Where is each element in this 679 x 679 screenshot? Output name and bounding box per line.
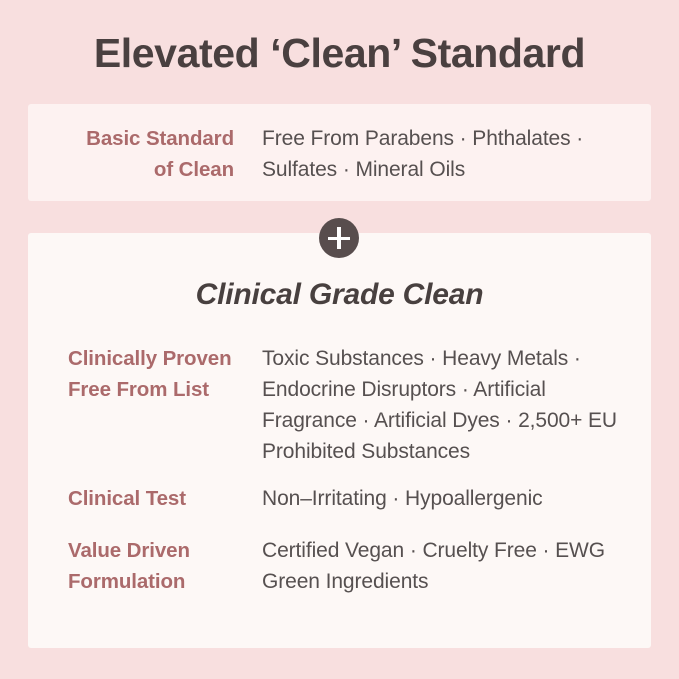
clinical-grade-clean-heading: Clinical Grade Clean — [28, 275, 651, 315]
basic-standard-label: Basic Standardof Clean — [40, 123, 234, 185]
clinical-test-label: Clinical Test — [68, 483, 262, 514]
basic-standard-row: Basic Standardof Clean Free From Paraben… — [40, 123, 632, 185]
clinically-proven-row: Clinically ProvenFree From List Toxic Su… — [68, 343, 617, 467]
value-driven-value: Certified Vegan · Cruelty Free · EWG Gre… — [262, 535, 617, 597]
clinical-test-row: Clinical Test Non–Irritating · Hypoaller… — [68, 483, 617, 514]
value-driven-label: Value DrivenFormulation — [68, 535, 262, 597]
value-driven-row: Value DrivenFormulation Certified Vegan … — [68, 535, 617, 597]
plus-icon-vertical-bar — [337, 227, 340, 249]
clinically-proven-label: Clinically ProvenFree From List — [68, 343, 262, 405]
plus-icon — [319, 218, 359, 258]
clinical-test-value: Non–Irritating · Hypoallergenic — [262, 483, 617, 514]
page-title: Elevated ‘Clean’ Standard — [0, 26, 679, 80]
clean-standard-infographic: Elevated ‘Clean’ Standard Basic Standard… — [0, 0, 679, 679]
basic-standard-value: Free From Parabens · Phthalates · Sulfat… — [262, 123, 632, 185]
clinically-proven-value: Toxic Substances · Heavy Metals · Endocr… — [262, 343, 617, 467]
